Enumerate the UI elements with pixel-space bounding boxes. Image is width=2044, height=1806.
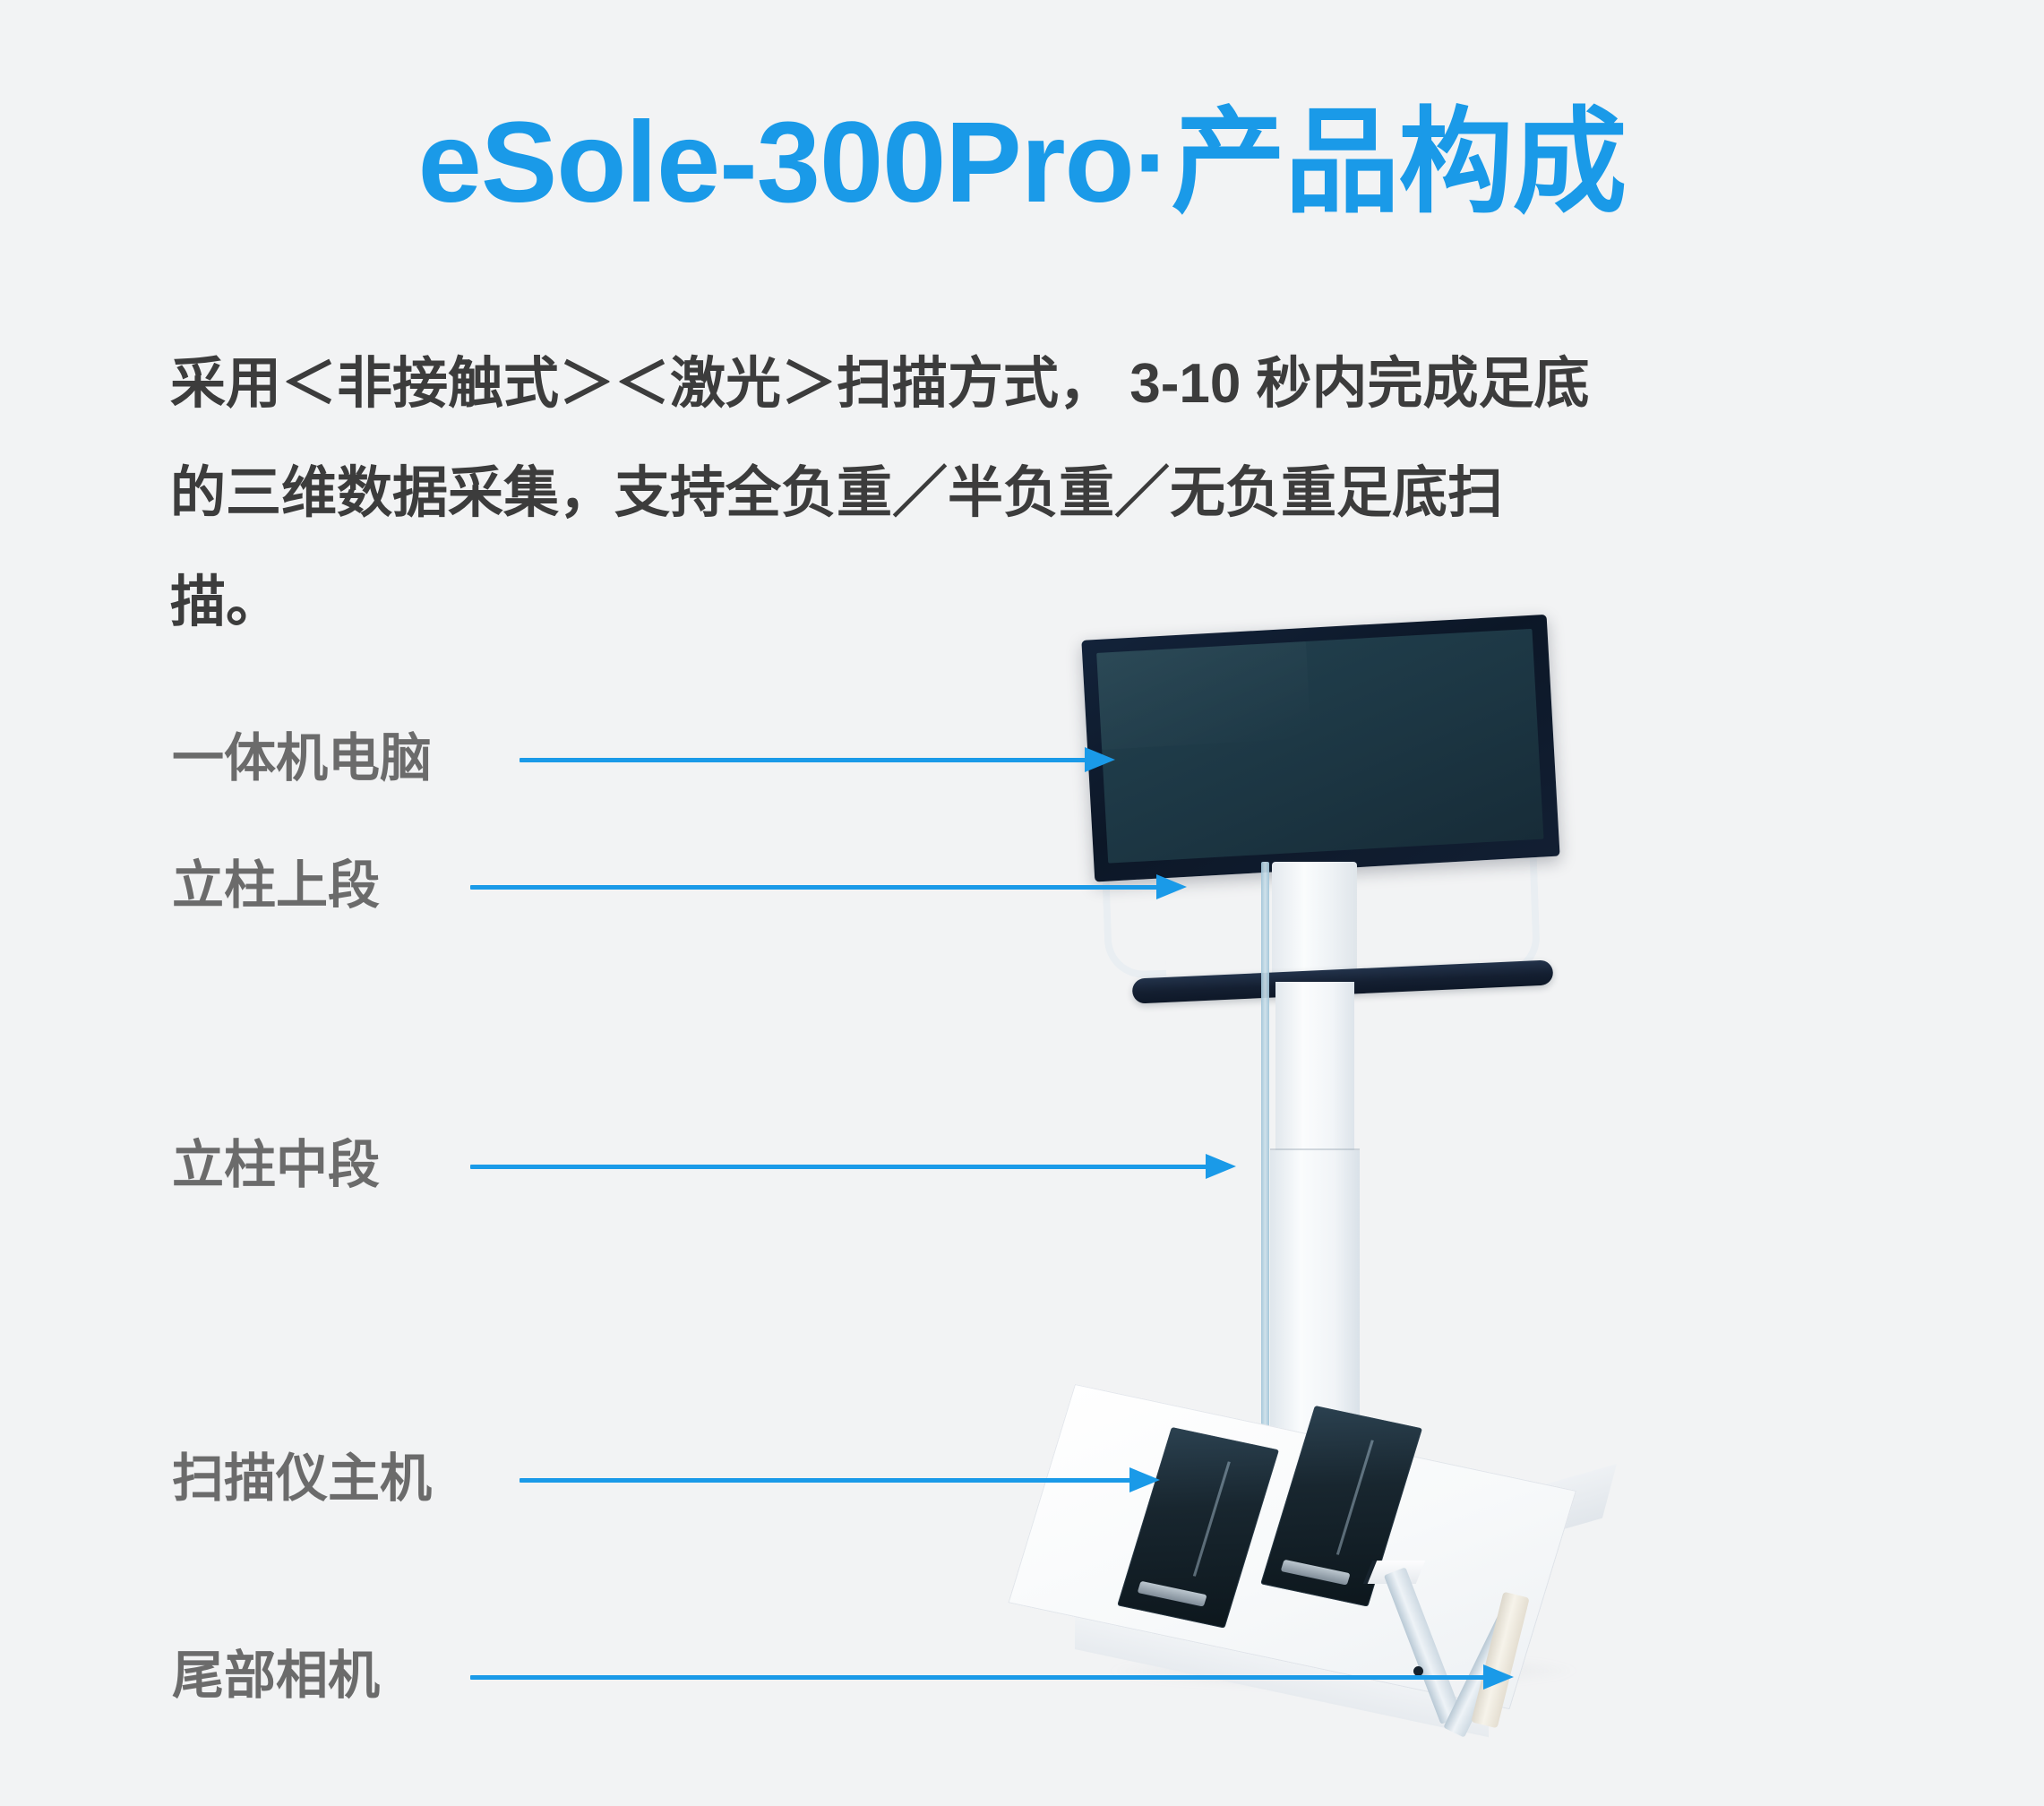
- leader-line-column-middle: [470, 1164, 1236, 1169]
- scan-sled-right: [1280, 1560, 1350, 1586]
- leader-arrowhead: [1483, 1664, 1514, 1690]
- intro-line-1: 采用＜非接触式＞＜激光＞扫描方式， 3-10 秒内完成足底: [170, 330, 1711, 439]
- leader-arrowhead: [1206, 1154, 1236, 1179]
- leader-arrowhead: [1156, 874, 1187, 899]
- tail-camera-arm-segment-upper: [1384, 1567, 1463, 1724]
- scan-sled-left: [1137, 1581, 1207, 1607]
- leader-line-tail-camera: [470, 1674, 1514, 1680]
- callout-label-all-in-one-pc: 一体机电脑: [172, 733, 432, 785]
- leader-shaft: [520, 758, 1086, 762]
- all-in-one-monitor: [1081, 615, 1559, 882]
- leader-shaft: [470, 885, 1157, 890]
- column-cable: [1261, 862, 1269, 1435]
- monitor-bezel: [1081, 615, 1559, 882]
- leader-line-column-upper: [470, 884, 1187, 890]
- leader-line-all-in-one-pc: [520, 757, 1115, 762]
- monitor-screen-glare: [1096, 641, 1311, 750]
- product-illustration: [1057, 627, 1791, 1747]
- intro-line-2: 的三维数据采集，支持全负重／半负重／无负重足底扫: [170, 439, 1711, 548]
- monitor-support-hook-right: [1476, 850, 1542, 977]
- leader-arrowhead: [1085, 747, 1115, 772]
- column-upper-segment: [1275, 982, 1354, 1152]
- callout-label-column-middle: 立柱中段: [172, 1139, 380, 1191]
- tail-camera-arm: [1372, 1561, 1587, 1749]
- scan-laser-line-left: [1192, 1462, 1230, 1577]
- callout-label-tail-camera: 尾部相机: [172, 1650, 380, 1702]
- leader-shaft: [470, 1675, 1484, 1680]
- scan-laser-line-right: [1335, 1440, 1373, 1555]
- leader-shaft: [520, 1478, 1130, 1483]
- page-canvas: eSole-300Pro·产品构成 采用＜非接触式＞＜激光＞扫描方式， 3-10…: [0, 0, 2044, 1806]
- leader-shaft: [470, 1165, 1207, 1169]
- page-title: eSole-300Pro·产品构成: [0, 106, 2044, 220]
- intro-paragraph: 采用＜非接触式＞＜激光＞扫描方式， 3-10 秒内完成足底 的三维数据采集，支持…: [170, 330, 1711, 658]
- leader-line-scanner-host: [520, 1477, 1160, 1483]
- leader-arrowhead: [1129, 1467, 1160, 1492]
- callout-label-column-upper: 立柱上段: [172, 860, 380, 912]
- callout-label-scanner-host: 扫描仪主机: [172, 1453, 432, 1505]
